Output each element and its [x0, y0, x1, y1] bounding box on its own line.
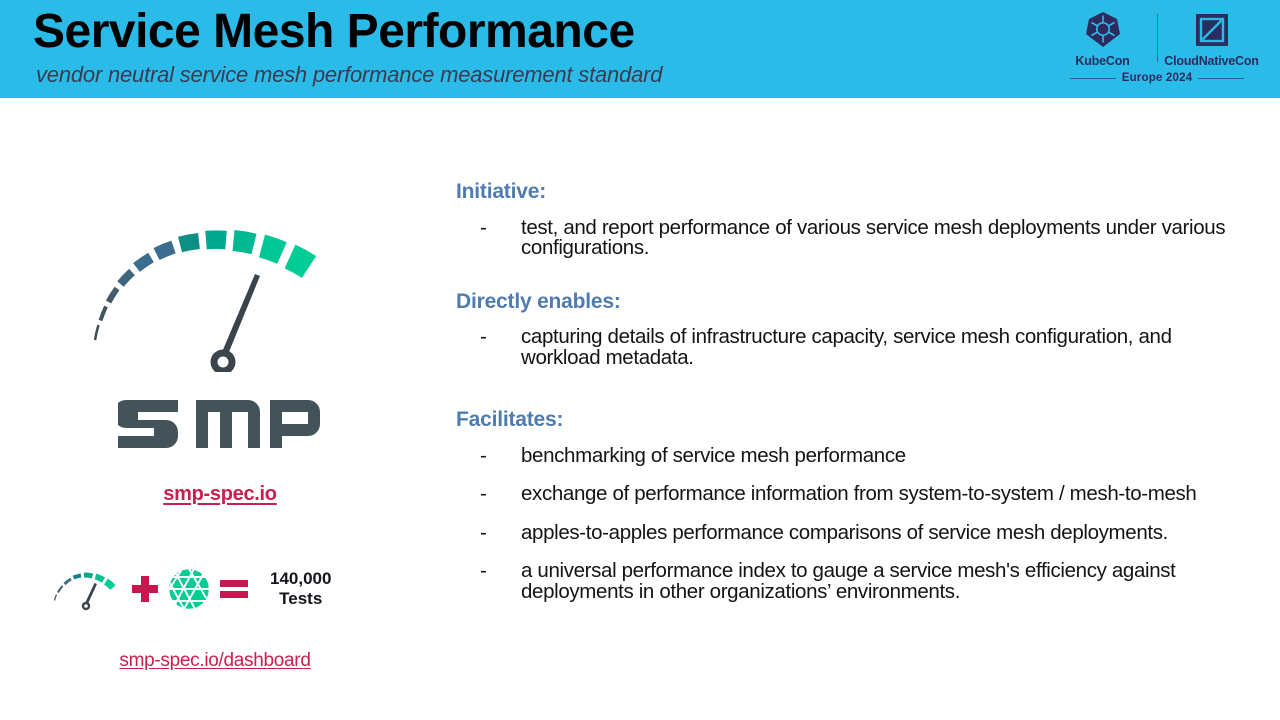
- bullet-dash-icon: -: [480, 327, 486, 348]
- section-heading: Directly enables:: [456, 290, 1246, 314]
- tests-count-unit: Tests: [270, 589, 331, 609]
- list-item: - exchange of performance information fr…: [456, 484, 1246, 505]
- bullet-text: a universal performance index to gauge a…: [521, 559, 1176, 603]
- bullet-text: apples-to-apples performance comparisons…: [521, 521, 1168, 544]
- list-item: - test, and report performance of variou…: [456, 218, 1246, 259]
- list-item: - a universal performance index to gauge…: [456, 561, 1246, 602]
- section-directly-enables: Directly enables: - capturing details of…: [456, 290, 1246, 369]
- conference-logo-row: KubeCon CloudNativeCon: [1042, 6, 1272, 68]
- cloudnativecon-logo: CloudNativeCon: [1160, 9, 1264, 68]
- left-column: smp-spec.io: [0, 98, 450, 720]
- tests-count: 140,000 Tests: [270, 569, 331, 609]
- content-column: Initiative: - test, and report performan…: [456, 180, 1246, 602]
- conference-edition: Europe 2024: [1122, 72, 1193, 84]
- header-bar: Service Mesh Performance vendor neutral …: [0, 0, 1280, 98]
- page-subtitle: vendor neutral service mesh performance …: [36, 62, 662, 88]
- cloudnativecon-label: CloudNativeCon: [1164, 54, 1258, 68]
- kubernetes-helm-icon: [1083, 9, 1123, 51]
- list-item: - benchmarking of service mesh performan…: [456, 446, 1246, 467]
- bullet-dash-icon: -: [480, 561, 486, 582]
- conference-logo-group: KubeCon CloudNativeCon Euro: [1042, 4, 1272, 96]
- tests-equation-row: 140,000 Tests: [50, 560, 380, 618]
- bullet-text: exchange of performance information from…: [521, 482, 1196, 505]
- page-title: Service Mesh Performance: [33, 4, 635, 61]
- section-heading: Initiative:: [456, 180, 1246, 204]
- tests-count-value: 140,000: [270, 569, 331, 589]
- section-initiative: Initiative: - test, and report performan…: [456, 180, 1246, 259]
- bullet-text: capturing details of infrastructure capa…: [521, 325, 1172, 369]
- bullet-dash-icon: -: [480, 218, 486, 239]
- list-item: - apples-to-apples performance compariso…: [456, 523, 1246, 544]
- smp-spec-link[interactable]: smp-spec.io: [0, 483, 440, 506]
- conference-edition-row: Europe 2024: [1042, 72, 1272, 84]
- list-item: - capturing details of infrastructure ca…: [456, 327, 1246, 368]
- section-heading: Facilitates:: [456, 408, 1246, 432]
- bullet-dash-icon: -: [480, 446, 486, 467]
- edition-rule-left: [1070, 78, 1116, 79]
- cncf-square-icon: [1193, 9, 1231, 51]
- smp-dashboard-link[interactable]: smp-spec.io/dashboard: [0, 650, 430, 672]
- kubecon-logo: KubeCon: [1051, 9, 1155, 68]
- bullet-text: test, and report performance of various …: [521, 216, 1225, 260]
- section-facilitates: Facilitates: - benchmarking of service m…: [456, 408, 1246, 602]
- slide-root: Service Mesh Performance vendor neutral …: [0, 0, 1280, 720]
- equals-icon: [218, 576, 250, 602]
- smp-wordmark: [118, 384, 328, 454]
- bullet-text: benchmarking of service mesh performance: [521, 444, 906, 467]
- logo-divider: [1157, 14, 1158, 62]
- mesh-sphere-icon: [168, 568, 210, 610]
- speedometer-gauge-small-icon: [50, 566, 122, 612]
- plus-icon: [130, 574, 160, 604]
- bullet-list: - capturing details of infrastructure ca…: [456, 327, 1246, 368]
- edition-rule-right: [1198, 78, 1244, 79]
- bullet-list: - benchmarking of service mesh performan…: [456, 446, 1246, 603]
- bullet-list: - test, and report performance of variou…: [456, 218, 1246, 259]
- bullet-dash-icon: -: [480, 523, 486, 544]
- speedometer-gauge-icon: [78, 202, 368, 372]
- kubecon-label: KubeCon: [1075, 54, 1129, 68]
- bullet-dash-icon: -: [480, 484, 486, 505]
